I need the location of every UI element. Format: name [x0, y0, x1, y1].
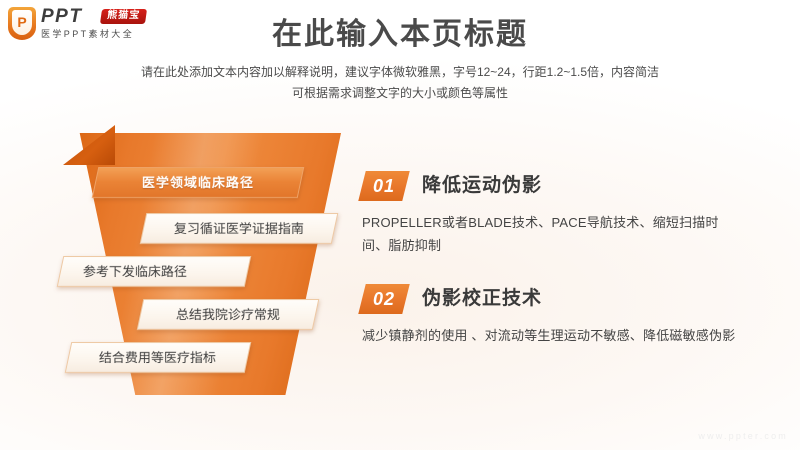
section-02-number: 02	[373, 289, 395, 309]
funnel-step-4[interactable]: 总结我院诊疗常规	[137, 299, 320, 330]
subtitle-line-1: 请在此处添加文本内容加以解释说明，建议字体微软雅黑，字号12~24，行距1.2~…	[80, 62, 720, 83]
funnel-step-1-label: 医学领域临床路径	[142, 175, 254, 191]
page-subtitle: 请在此处添加文本内容加以解释说明，建议字体微软雅黑，字号12~24，行距1.2~…	[80, 62, 720, 104]
section-02-header: 02 伪影校正技术	[362, 283, 762, 315]
slide-canvas: P PPT 熊猫宝 医学PPT素材大全 在此输入本页标题 请在此处添加文本内容加…	[0, 0, 800, 450]
section-02: 02 伪影校正技术 减少镇静剂的使用 、对流动等生理运动不敏感、降低磁敏感伪影	[362, 283, 762, 347]
section-02-number-badge: 02	[358, 284, 409, 314]
section-01: 01 降低运动伪影 PROPELLER或者BLADE技术、PACE导航技术、缩短…	[362, 170, 762, 257]
funnel-step-2[interactable]: 复习循证医学证据指南	[140, 213, 339, 244]
section-02-body: 减少镇静剂的使用 、对流动等生理运动不敏感、降低磁敏感伪影	[362, 324, 740, 347]
content-sections: 01 降低运动伪影 PROPELLER或者BLADE技术、PACE导航技术、缩短…	[362, 170, 762, 373]
section-01-number: 01	[373, 176, 395, 196]
funnel-step-2-label: 复习循证医学证据指南	[174, 221, 304, 237]
section-01-title: 降低运动伪影	[422, 174, 542, 198]
funnel-step-5[interactable]: 结合费用等医疗指标	[65, 342, 252, 373]
section-01-number-badge: 01	[358, 171, 409, 201]
subtitle-line-2: 可根据需求调整文字的大小或颜色等属性	[80, 83, 720, 104]
section-01-body: PROPELLER或者BLADE技术、PACE导航技术、缩短扫描时间、脂肪抑制	[362, 211, 740, 257]
section-01-header: 01 降低运动伪影	[362, 170, 762, 202]
funnel-step-3[interactable]: 参考下发临床路径	[57, 256, 252, 287]
section-02-title: 伪影校正技术	[422, 287, 542, 311]
funnel-step-3-label: 参考下发临床路径	[83, 264, 187, 280]
funnel-step-1[interactable]: 医学领域临床路径	[92, 167, 305, 198]
watermark: www.ppter.com	[698, 430, 788, 442]
funnel-step-4-label: 总结我院诊疗常规	[176, 307, 280, 323]
page-title: 在此输入本页标题	[0, 16, 800, 54]
funnel-step-5-label: 结合费用等医疗指标	[99, 350, 216, 366]
funnel-diagram: 医学领域临床路径 复习循证医学证据指南 参考下发临床路径 总结我院诊疗常规 结合…	[45, 125, 355, 395]
